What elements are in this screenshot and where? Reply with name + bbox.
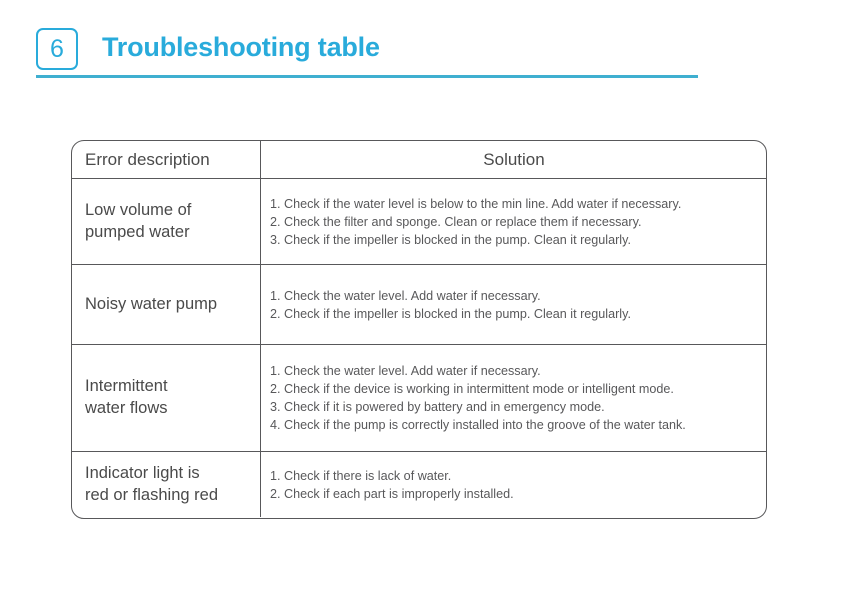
solution-line: 1. Check the water level. Add water if n… [270,287,758,305]
error-line: Intermittent [85,376,168,398]
error-line: red or flashing red [85,485,218,507]
solution-cell: 1. Check if there is lack of water. 2. C… [261,452,766,517]
section-number-badge: 6 [36,28,78,70]
error-line: Low volume of [85,200,191,222]
solution-line: 2. Check if each part is improperly inst… [270,485,758,503]
solution-line: 1. Check if there is lack of water. [270,467,758,485]
header-divider [36,75,698,78]
error-description-cell: Indicator light is red or flashing red [72,452,261,517]
table-header-row: Error description Solution [72,141,766,178]
error-description-cell: Low volume of pumped water [72,179,261,264]
column-header-solution: Solution [261,141,766,178]
column-header-error-description: Error description [72,141,261,178]
error-line: water flows [85,398,168,420]
error-line: Noisy water pump [85,294,217,316]
solution-line: 3. Check if the impeller is blocked in t… [270,231,758,249]
page-title: Troubleshooting table [102,32,380,63]
solution-line: 4. Check if the pump is correctly instal… [270,416,758,434]
error-line: pumped water [85,222,191,244]
solution-cell: 1. Check the water level. Add water if n… [261,265,766,344]
table-row: Intermittent water flows 1. Check the wa… [72,344,766,451]
solution-line: 2. Check if the impeller is blocked in t… [270,305,758,323]
troubleshooting-table: Error description Solution Low volume of… [71,140,767,519]
error-description-cell: Noisy water pump [72,265,261,344]
solution-cell: 1. Check the water level. Add water if n… [261,345,766,451]
section-header: 6 Troubleshooting table [36,26,698,82]
table-row: Indicator light is red or flashing red 1… [72,451,766,517]
solution-cell: 1. Check if the water level is below to … [261,179,766,264]
solution-line: 1. Check the water level. Add water if n… [270,362,758,380]
solution-line: 2. Check the filter and sponge. Clean or… [270,213,758,231]
table-row: Low volume of pumped water 1. Check if t… [72,178,766,264]
solution-line: 1. Check if the water level is below to … [270,195,758,213]
error-description-cell: Intermittent water flows [72,345,261,451]
error-line: Indicator light is [85,463,218,485]
solution-line: 3. Check if it is powered by battery and… [270,398,758,416]
table-row: Noisy water pump 1. Check the water leve… [72,264,766,344]
solution-line: 2. Check if the device is working in int… [270,380,758,398]
section-number: 6 [50,37,64,62]
